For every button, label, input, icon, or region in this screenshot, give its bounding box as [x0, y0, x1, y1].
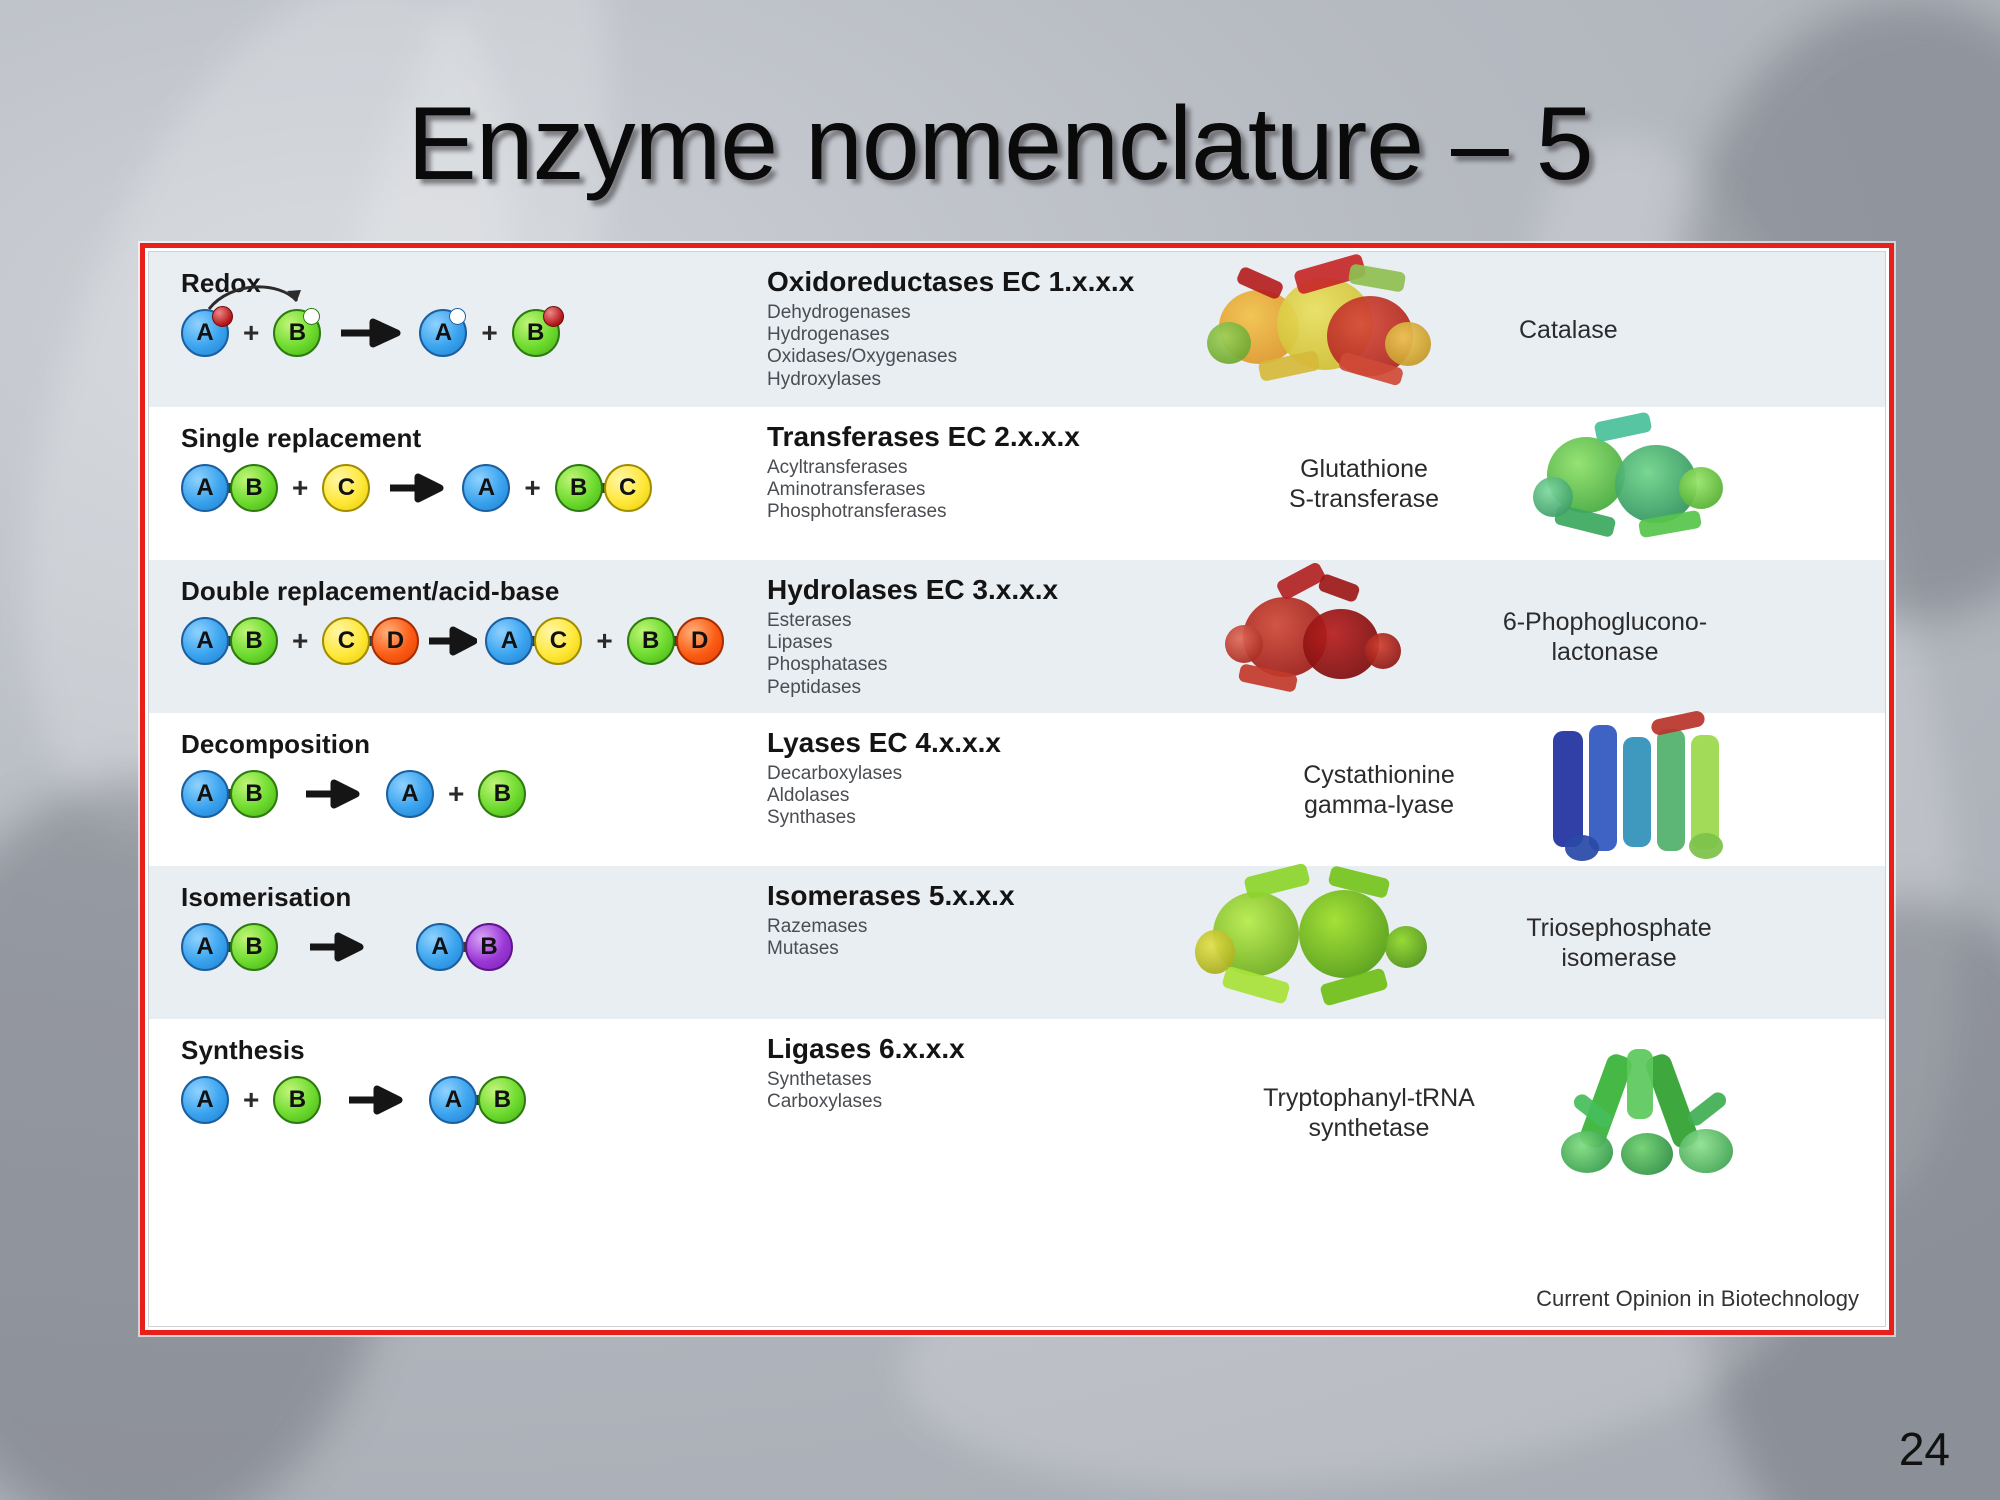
molecule-c: C — [534, 617, 582, 665]
example-enzyme-line: Triosephosphate — [1469, 913, 1769, 943]
reaction-arrow-icon — [304, 779, 360, 809]
molecule-a: A — [181, 617, 229, 665]
molecule-a: A — [416, 923, 464, 971]
ec-subclass-list: Esterases Lipases Phosphatases Peptidase… — [767, 610, 1189, 699]
example-enzyme-line: isomerase — [1469, 943, 1769, 973]
example-enzyme-line: Glutathione — [1229, 454, 1499, 484]
notch-icon — [449, 308, 466, 325]
example-enzyme-line: 6-Phophoglucono- — [1455, 607, 1755, 637]
example-enzyme-line: Cystathionine — [1239, 760, 1519, 790]
slide-number: 24 — [1899, 1422, 1950, 1476]
molecule-d: D — [676, 617, 724, 665]
ec-class-cell: Isomerases 5.x.x.x Razemases Mutases — [759, 866, 1189, 1019]
molecule-label: A — [196, 627, 213, 655]
molecule-label: C — [619, 474, 636, 502]
ec-subclass-item: Acyltransferases — [767, 457, 1189, 479]
journal-credit: Current Opinion in Biotechnology — [1536, 1286, 1859, 1312]
molecule-label: D — [387, 627, 404, 655]
protein-structure-image — [1189, 868, 1439, 1018]
molecule-b: B — [273, 1076, 321, 1124]
molecule-b: B — [273, 309, 321, 357]
ec-subclass-item: Carboxylases — [767, 1091, 1189, 1113]
example-enzyme-line: Catalase — [1519, 315, 1618, 345]
molecule-c: C — [322, 617, 370, 665]
ec-class-cell: Lyases EC 4.x.x.x Decarboxylases Aldolas… — [759, 713, 1189, 866]
protein-structure-image — [1539, 715, 1749, 865]
molecule-a: A — [181, 464, 229, 512]
ec-subclass-item: Esterases — [767, 610, 1189, 632]
ec-subclass-item: Hydrogenases — [767, 324, 1189, 346]
molecule-label: A — [196, 1086, 213, 1114]
molecule-label: B — [494, 1086, 511, 1114]
example-cell: Tryptophanyl-tRNA synthetase — [1189, 1019, 1885, 1189]
protein-structure-image — [1199, 260, 1449, 400]
reaction-arrow-icon — [308, 932, 364, 962]
reaction-diagram-double-replacement: A B + C D A C + B D — [181, 617, 759, 665]
ec-subclass-item: Razemases — [767, 916, 1189, 938]
molecule-label: C — [338, 627, 355, 655]
protein-structure-image — [1541, 1049, 1761, 1179]
molecule-label: C — [338, 474, 355, 502]
molecule-label: C — [550, 627, 567, 655]
example-enzyme-label: Glutathione S-transferase — [1229, 454, 1499, 514]
ec-class-label: Ligases 6.x.x.x — [767, 1033, 1189, 1065]
reaction-cell: Synthesis A + B A B — [149, 1019, 759, 1189]
molecule-b: B — [478, 1076, 526, 1124]
molecule-label: A — [501, 627, 518, 655]
table-row: Decomposition A B A + B Lyases EC 4.x.x.… — [149, 713, 1885, 866]
molecule-d: D — [371, 617, 419, 665]
slide-title: Enzyme nomenclature – 5 — [0, 90, 2000, 199]
molecule-label: A — [196, 933, 213, 961]
example-enzyme-label: Catalase — [1519, 315, 1618, 345]
molecule-b: B — [230, 464, 278, 512]
molecule-b: B — [627, 617, 675, 665]
ec-class-cell: Hydrolases EC 3.x.x.x Esterases Lipases … — [759, 560, 1189, 713]
ec-class-label: Transferases EC 2.x.x.x — [767, 421, 1189, 453]
molecule-label: A — [401, 780, 418, 808]
electron-dot-icon — [543, 306, 564, 327]
table-row: Synthesis A + B A B Ligases 6.x.x.x Synt… — [149, 1019, 1885, 1189]
reaction-diagram-isomerisation: A B A B — [181, 923, 759, 971]
molecule-a: A — [462, 464, 510, 512]
ec-subclass-item: Synthases — [767, 807, 1189, 829]
reaction-arrow-icon — [388, 473, 444, 503]
molecule-b: B — [230, 617, 278, 665]
molecule-b: B — [230, 923, 278, 971]
ec-subclass-item: Hydroxylases — [767, 369, 1189, 391]
molecule-label: A — [196, 780, 213, 808]
example-cell: Catalase — [1189, 252, 1885, 407]
reaction-arrow-icon — [347, 1085, 403, 1115]
ec-class-label: Oxidoreductases EC 1.x.x.x — [767, 266, 1189, 298]
reaction-type-label: Isomerisation — [181, 882, 759, 913]
reaction-arrow-icon — [427, 626, 477, 656]
notch-icon — [303, 308, 320, 325]
ec-subclass-list: Decarboxylases Aldolases Synthases — [767, 763, 1189, 830]
molecule-label: D — [691, 627, 708, 655]
ec-subclass-item: Dehydrogenases — [767, 302, 1189, 324]
reaction-cell: Decomposition A B A + B — [149, 713, 759, 866]
ec-subclass-item: Decarboxylases — [767, 763, 1189, 785]
example-enzyme-line: gamma-lyase — [1239, 790, 1519, 820]
reaction-diagram-redox: A + B — [181, 309, 759, 357]
molecule-a: A — [181, 309, 229, 357]
molecule-label: B — [494, 780, 511, 808]
reaction-diagram-synthesis: A + B A B — [181, 1076, 759, 1124]
molecule-label: B — [570, 474, 587, 502]
molecule-b: B — [230, 770, 278, 818]
molecule-b: B — [512, 309, 560, 357]
example-enzyme-label: Cystathionine gamma-lyase — [1239, 760, 1519, 820]
reaction-arrow-icon — [339, 318, 401, 348]
molecule-a: A — [386, 770, 434, 818]
protein-structure-image — [1219, 567, 1409, 707]
molecule-a: A — [419, 309, 467, 357]
ec-subclass-list: Dehydrogenases Hydrogenases Oxidases/Oxy… — [767, 302, 1189, 391]
reaction-cell: Double replacement/acid-base A B + C D A… — [149, 560, 759, 713]
figure-inner: Redox A + B — [148, 251, 1886, 1327]
ec-class-cell: Ligases 6.x.x.x Synthetases Carboxylases — [759, 1019, 1189, 1189]
plus-sign: + — [596, 625, 612, 657]
ec-subclass-item: Oxidases/Oxygenases — [767, 346, 1189, 368]
ec-class-label: Isomerases 5.x.x.x — [767, 880, 1189, 912]
table-row: Redox A + B — [149, 252, 1885, 407]
protein-structure-image — [1529, 411, 1739, 556]
molecule-label: B — [642, 627, 659, 655]
plus-sign: + — [481, 317, 497, 349]
plus-sign: + — [243, 317, 259, 349]
molecule-label: A — [445, 1086, 462, 1114]
molecule-label: B — [245, 627, 262, 655]
example-enzyme-label: Tryptophanyl-tRNA synthetase — [1219, 1083, 1519, 1143]
reaction-type-label: Decomposition — [181, 729, 759, 760]
molecule-label: B — [245, 933, 262, 961]
ec-subclass-list: Synthetases Carboxylases — [767, 1069, 1189, 1113]
molecule-label: B — [289, 319, 306, 347]
example-enzyme-line: S-transferase — [1229, 484, 1499, 514]
molecule-a: A — [181, 923, 229, 971]
ec-subclass-item: Aminotransferases — [767, 479, 1189, 501]
example-enzyme-label: 6-Phophoglucono- lactonase — [1455, 607, 1755, 667]
example-cell: Glutathione S-transferase — [1189, 407, 1885, 560]
plus-sign: + — [448, 778, 464, 810]
ec-class-cell: Transferases EC 2.x.x.x Acyltransferases… — [759, 407, 1189, 560]
example-cell: 6-Phophoglucono- lactonase — [1189, 560, 1885, 713]
example-enzyme-line: Tryptophanyl-tRNA — [1219, 1083, 1519, 1113]
reaction-cell: Isomerisation A B A B — [149, 866, 759, 1019]
ec-class-label: Hydrolases EC 3.x.x.x — [767, 574, 1189, 606]
molecule-b: B — [478, 770, 526, 818]
ec-subclass-item: Peptidases — [767, 677, 1189, 699]
reaction-type-label: Double replacement/acid-base — [181, 576, 759, 607]
example-enzyme-line: lactonase — [1455, 637, 1755, 667]
molecule-label: A — [478, 474, 495, 502]
table-row: Double replacement/acid-base A B + C D A… — [149, 560, 1885, 713]
molecule-a: A — [485, 617, 533, 665]
molecule-label: A — [435, 319, 452, 347]
reaction-cell: Single replacement A B + C A + B C — [149, 407, 759, 560]
example-cell: Cystathionine gamma-lyase — [1189, 713, 1885, 866]
ec-subclass-item: Aldolases — [767, 785, 1189, 807]
molecule-c: C — [604, 464, 652, 512]
molecule-b: B — [555, 464, 603, 512]
example-enzyme-line: synthetase — [1219, 1113, 1519, 1143]
molecule-b-isomer: B — [465, 923, 513, 971]
ec-subclass-item: Phosphotransferases — [767, 501, 1189, 523]
molecule-c: C — [322, 464, 370, 512]
example-cell: Triosephosphate isomerase — [1189, 866, 1885, 1019]
table-row: Isomerisation A B A B Isomerases 5.x.x.x — [149, 866, 1885, 1019]
reaction-type-label: Synthesis — [181, 1035, 759, 1066]
plus-sign: + — [292, 625, 308, 657]
molecule-label: B — [289, 1086, 306, 1114]
molecule-a: A — [429, 1076, 477, 1124]
ec-subclass-list: Razemases Mutases — [767, 916, 1189, 960]
molecule-label: B — [480, 933, 497, 961]
ec-subclass-item: Lipases — [767, 632, 1189, 654]
molecule-a: A — [181, 1076, 229, 1124]
plus-sign: + — [292, 472, 308, 504]
plus-sign: + — [524, 472, 540, 504]
ec-class-cell: Oxidoreductases EC 1.x.x.x Dehydrogenase… — [759, 252, 1189, 407]
reaction-type-label: Single replacement — [181, 423, 759, 454]
reaction-diagram-single-replacement: A B + C A + B C — [181, 464, 759, 512]
molecule-label: B — [245, 474, 262, 502]
molecule-a: A — [181, 770, 229, 818]
molecule-label: B — [245, 780, 262, 808]
molecule-label: A — [196, 474, 213, 502]
figure-frame: Redox A + B — [140, 243, 1894, 1335]
molecule-label: B — [527, 319, 544, 347]
molecule-label: A — [431, 933, 448, 961]
plus-sign: + — [243, 1084, 259, 1116]
ec-subclass-item: Phosphatases — [767, 654, 1189, 676]
example-enzyme-label: Triosephosphate isomerase — [1469, 913, 1769, 973]
ec-subclass-list: Acyltransferases Aminotransferases Phosp… — [767, 457, 1189, 524]
table-row: Single replacement A B + C A + B C — [149, 407, 1885, 560]
reaction-cell: Redox A + B — [149, 252, 759, 407]
ec-class-label: Lyases EC 4.x.x.x — [767, 727, 1189, 759]
reaction-diagram-decomposition: A B A + B — [181, 770, 759, 818]
molecule-label: A — [196, 319, 213, 347]
ec-subclass-item: Mutases — [767, 938, 1189, 960]
ec-subclass-item: Synthetases — [767, 1069, 1189, 1091]
